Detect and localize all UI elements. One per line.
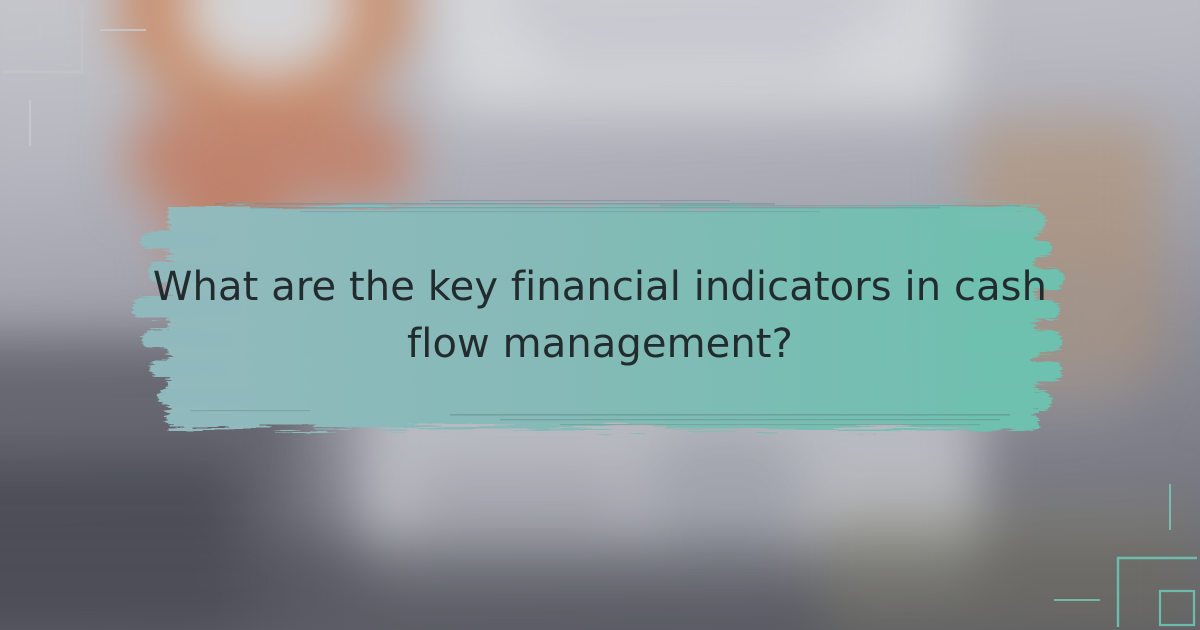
page-title: What are the key financial indicators in… bbox=[140, 200, 1060, 432]
corner-square-icon bbox=[6, 5, 40, 39]
corner-frame-top-left bbox=[0, 0, 160, 160]
corner-bracket-icon bbox=[3, 3, 82, 72]
corner-bracket-icon bbox=[1118, 558, 1197, 627]
headline-line-2: flow management? bbox=[407, 316, 793, 373]
quote-card: What are the key financial indicators in… bbox=[0, 0, 1200, 630]
corner-square-icon bbox=[1160, 591, 1194, 625]
headline-line-1: What are the key financial indicators in… bbox=[153, 259, 1047, 316]
corner-frame-bottom-right bbox=[1040, 470, 1200, 630]
